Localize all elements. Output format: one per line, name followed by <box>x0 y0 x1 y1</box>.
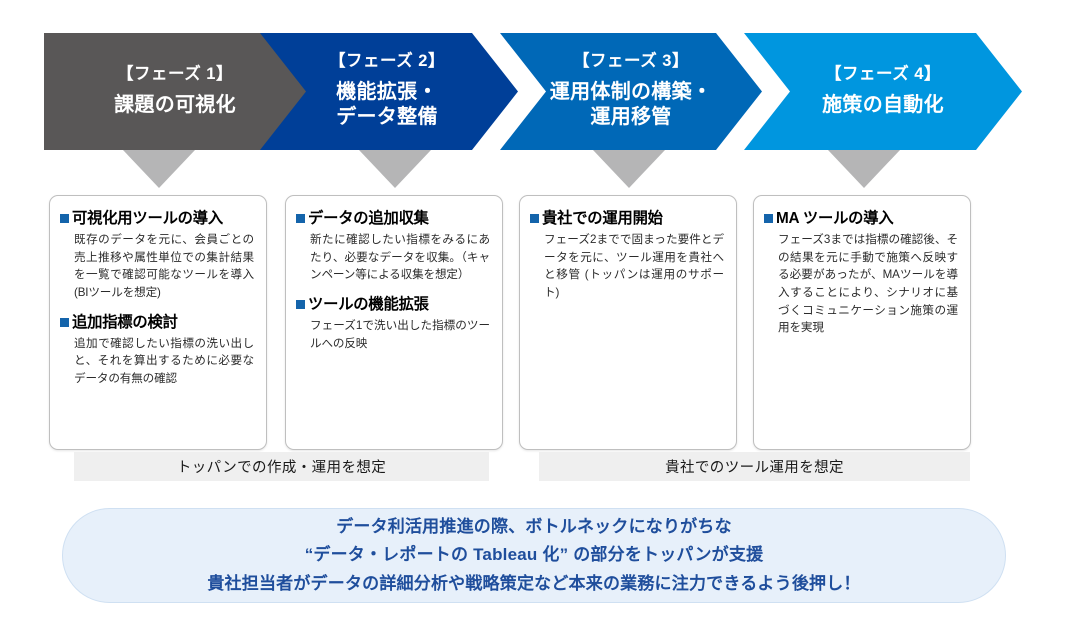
card-2-item-2-body: フェーズ1で洗い出した指標のツールへの反映 <box>310 317 490 352</box>
phase-3-title-line-2: 運用移管 <box>550 105 712 131</box>
square-bullet-icon <box>764 214 773 223</box>
card-2-item-2: ツールの機能拡張 フェーズ1で洗い出した指標のツールへの反映 <box>296 295 490 352</box>
phase-2-title-line-1: 機能拡張・ <box>336 80 438 106</box>
phase-arrow-3: 【フェーズ 3】 運用体制の構築・ 運用移管 <box>500 33 762 150</box>
assumption-bar-client: 貴社でのツール運用を想定 <box>539 452 970 481</box>
phase-2-title-line-2: データ整備 <box>336 105 438 131</box>
square-bullet-icon <box>60 214 69 223</box>
phase-1-label: 【フェーズ 1】 <box>117 65 233 85</box>
phase-arrow-band: 【フェーズ 1】 課題の可視化 【フェーズ 2】 機能拡張・ データ整備 【フェ… <box>0 33 1067 150</box>
phase-card-3: 貴社での運用開始 フェーズ2までで固まった要件とデータを元に、ツール運用を貴社へ… <box>519 195 737 450</box>
card-1-item-1-body: 既存のデータを元に、会員ごとの売上推移や属性単位での集計結果を一覧で確認可能なツ… <box>74 231 254 301</box>
summary-line-2: “データ・レポートの Tableau 化” の部分をトッパンが支援 <box>305 542 764 568</box>
phase-3-title: 運用体制の構築・ 運用移管 <box>550 80 712 131</box>
summary-callout-box: データ利活用推進の際、ボトルネックになりがちな “データ・レポートの Table… <box>62 508 1006 603</box>
square-bullet-icon <box>530 214 539 223</box>
phase-1-title-line-1: 課題の可視化 <box>114 93 236 119</box>
phase-4-title-line-1: 施策の自動化 <box>822 93 944 119</box>
phase-4-title: 施策の自動化 <box>822 93 944 119</box>
card-2-item-1-heading-row: データの追加収集 <box>296 209 490 228</box>
card-4-item-1: MA ツールの導入 フェーズ3までは指標の確認後、その結果を元に手動で施策へ反映… <box>764 209 958 337</box>
card-2-item-2-heading: ツールの機能拡張 <box>308 295 429 314</box>
phase-4-label: 【フェーズ 4】 <box>825 65 941 85</box>
card-4-item-1-heading: MA ツールの導入 <box>776 209 893 228</box>
card-1-item-2-heading-row: 追加指標の検討 <box>60 313 254 332</box>
assumption-bar-toppan: トッパンでの作成・運用を想定 <box>74 452 489 481</box>
card-4-item-1-body: フェーズ3までは指標の確認後、その結果を元に手動で施策へ反映する必要があったが、… <box>778 231 958 337</box>
card-3-item-1-body: フェーズ2までで固まった要件とデータを元に、ツール運用を貴社へと移管 (トッパン… <box>544 231 724 301</box>
card-2-item-1-heading: データの追加収集 <box>308 209 429 228</box>
phase-3-label: 【フェーズ 3】 <box>573 52 689 72</box>
card-3-item-1-heading: 貴社での運用開始 <box>542 209 663 228</box>
card-2-item-2-heading-row: ツールの機能拡張 <box>296 295 490 314</box>
summary-line-3: 貴社担当者がデータの詳細分析や戦略策定など本来の業務に注力できるよう後押し！ <box>207 571 860 597</box>
phase-arrow-1: 【フェーズ 1】 課題の可視化 <box>44 33 306 150</box>
card-3-item-1: 貴社での運用開始 フェーズ2までで固まった要件とデータを元に、ツール運用を貴社へ… <box>530 209 724 302</box>
phase-2-title: 機能拡張・ データ整備 <box>336 80 438 131</box>
card-1-item-1-heading: 可視化用ツールの導入 <box>72 209 223 228</box>
down-arrow-icon-3 <box>593 150 665 188</box>
card-2-item-1: データの追加収集 新たに確認したい指標をみるにあたり、必要なデータを収集。（キャ… <box>296 209 490 284</box>
phase-1-title: 課題の可視化 <box>114 93 236 119</box>
square-bullet-icon <box>296 214 305 223</box>
phase-card-2: データの追加収集 新たに確認したい指標をみるにあたり、必要なデータを収集。（キャ… <box>285 195 503 450</box>
square-bullet-icon <box>60 318 69 327</box>
diagram-canvas: 【フェーズ 1】 課題の可視化 【フェーズ 2】 機能拡張・ データ整備 【フェ… <box>0 0 1067 642</box>
card-1-item-1-heading-row: 可視化用ツールの導入 <box>60 209 254 228</box>
phase-arrow-4: 【フェーズ 4】 施策の自動化 <box>744 33 1022 150</box>
card-1-item-2: 追加指標の検討 追加で確認したい指標の洗い出しと、それを算出するために必要なデー… <box>60 313 254 388</box>
down-arrow-icon-4 <box>828 150 900 188</box>
card-1-item-2-heading: 追加指標の検討 <box>72 313 178 332</box>
phase-card-4: MA ツールの導入 フェーズ3までは指標の確認後、その結果を元に手動で施策へ反映… <box>753 195 971 450</box>
square-bullet-icon <box>296 300 305 309</box>
down-arrow-icon-1 <box>123 150 195 188</box>
down-arrow-icon-2 <box>359 150 431 188</box>
phase-2-label: 【フェーズ 2】 <box>329 52 445 72</box>
phase-card-1: 可視化用ツールの導入 既存のデータを元に、会員ごとの売上推移や属性単位での集計結… <box>49 195 267 450</box>
card-1-item-1: 可視化用ツールの導入 既存のデータを元に、会員ごとの売上推移や属性単位での集計結… <box>60 209 254 302</box>
summary-line-1: データ利活用推進の際、ボトルネックになりがちな <box>336 514 732 540</box>
card-4-item-1-heading-row: MA ツールの導入 <box>764 209 958 228</box>
card-3-item-1-heading-row: 貴社での運用開始 <box>530 209 724 228</box>
card-1-item-2-body: 追加で確認したい指標の洗い出しと、それを算出するために必要なデータの有無の確認 <box>74 335 254 388</box>
phase-3-title-line-1: 運用体制の構築・ <box>550 80 712 106</box>
card-2-item-1-body: 新たに確認したい指標をみるにあたり、必要なデータを収集。（キャンペーン等による収… <box>310 231 490 284</box>
